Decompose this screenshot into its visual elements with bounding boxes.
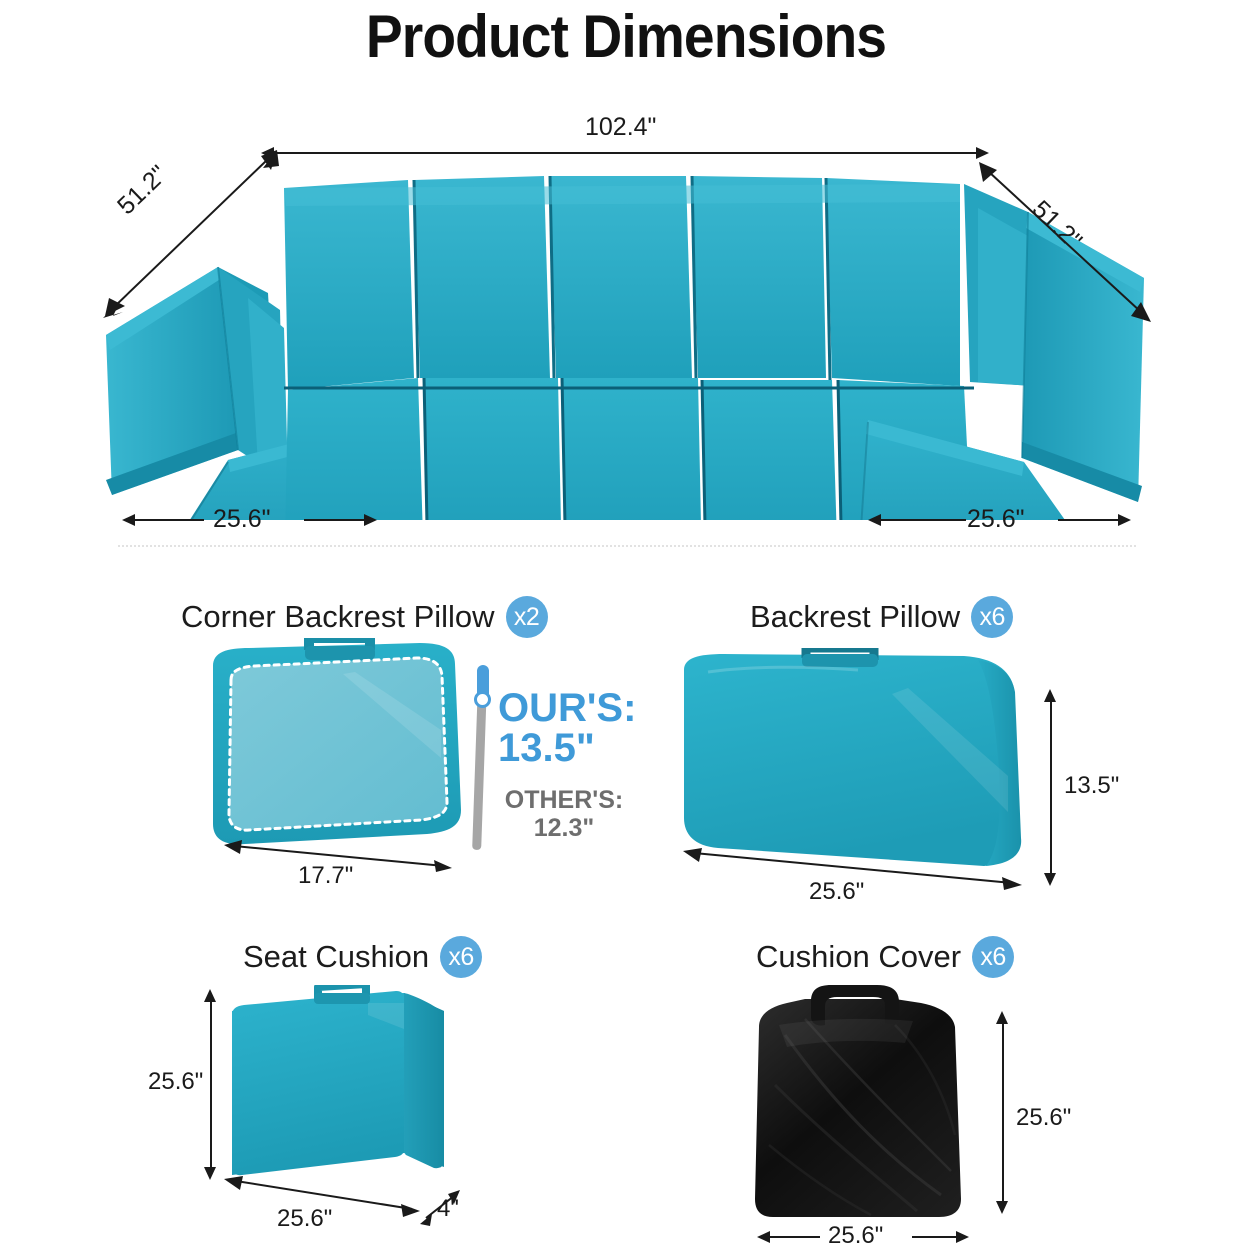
backrest-pillow-width-label: 25.6" — [809, 878, 864, 906]
backrest-pillow-label: Backrest Pillow — [750, 599, 960, 635]
sofa-width-arrow-right — [976, 147, 989, 159]
cushion-cover-height-arrow-bottom — [996, 1201, 1008, 1214]
sofa-left-seat-line-a — [134, 519, 204, 521]
sofa-right-seat-line-a — [880, 519, 966, 521]
sofa-right-seat-label: 25.6" — [967, 505, 1025, 534]
others-value-text: 12.3" — [534, 814, 595, 842]
comparison-ours-label: OUR'S: 13.5" — [498, 688, 636, 768]
sofa-left-depth-arrow — [95, 148, 285, 323]
sofa-width-label: 102.4" — [585, 113, 656, 142]
others-label-text: OTHER'S: — [505, 786, 623, 814]
ours-label-text: OUR'S: — [498, 686, 636, 730]
sofa-width-line — [272, 152, 978, 154]
cushion-cover-width-arrow-left — [757, 1231, 770, 1243]
corner-backrest-pillow-label: Corner Backrest Pillow — [181, 599, 495, 635]
cushion-cover-width-line-b — [912, 1236, 958, 1238]
comparison-others-label: OTHER'S: 12.3" — [500, 786, 628, 842]
seat-cushion-count-badge: x6 — [440, 936, 482, 978]
cushion-cover-width-arrow-right — [956, 1231, 969, 1243]
cushion-cover-height-arrow-top — [996, 1011, 1008, 1024]
sofa-left-seat-label: 25.6" — [213, 505, 271, 534]
backrest-pillow-height-label: 13.5" — [1064, 772, 1119, 800]
corner-backrest-pillow-heading: Corner Backrest Pillow x2 — [181, 596, 548, 638]
seat-cushion-depth-label: 4" — [437, 1195, 459, 1223]
comparison-knob — [474, 691, 491, 708]
backrest-pillow-count-badge: x6 — [971, 596, 1013, 638]
seat-cushion-width-label: 25.6" — [277, 1205, 332, 1233]
cushion-cover-heading: Cushion Cover x6 — [756, 936, 1014, 978]
seat-cushion-height-arrow-bottom — [204, 1167, 216, 1180]
sofa-right-seat-line-b — [1058, 519, 1120, 521]
seat-cushion-height-line — [210, 1000, 212, 1168]
backrest-pillow-heading: Backrest Pillow x6 — [750, 596, 1013, 638]
seat-cushion-height-arrow-top — [204, 989, 216, 1002]
cushion-cover-width-line-a — [768, 1236, 820, 1238]
section-divider — [118, 545, 1136, 547]
page-title: Product Dimensions — [50, 2, 1202, 71]
sofa-right-seat-arrow-left — [868, 514, 881, 526]
corner-backrest-pillow-width-label: 17.7" — [298, 862, 353, 890]
seat-cushion-image — [218, 985, 468, 1195]
cushion-cover-width-label: 25.6" — [828, 1222, 883, 1250]
seat-cushion-heading: Seat Cushion x6 — [243, 936, 482, 978]
sofa-left-seat-arrow-left — [122, 514, 135, 526]
seat-cushion-height-label: 25.6" — [148, 1068, 203, 1096]
backrest-pillow-height-arrow-top — [1044, 689, 1056, 702]
backrest-pillow-height-line — [1050, 700, 1052, 874]
cushion-cover-count-badge: x6 — [972, 936, 1014, 978]
cushion-cover-label: Cushion Cover — [756, 939, 961, 975]
corner-backrest-pillow-count-badge: x2 — [506, 596, 548, 638]
sofa-left-seat-arrow-right — [364, 514, 377, 526]
cushion-cover-height-line — [1002, 1022, 1004, 1202]
backrest-pillow-height-arrow-bottom — [1044, 873, 1056, 886]
cushion-cover-image — [745, 985, 995, 1220]
cushion-cover-height-label: 25.6" — [1016, 1104, 1071, 1132]
product-dimensions-infographic: Product Dimensions — [0, 0, 1252, 1252]
corner-backrest-pillow-image — [205, 638, 480, 853]
ours-value-text: 13.5" — [498, 726, 595, 770]
sofa-right-seat-arrow-right — [1118, 514, 1131, 526]
sofa-left-seat-line-b — [304, 519, 366, 521]
seat-cushion-label: Seat Cushion — [243, 939, 429, 975]
